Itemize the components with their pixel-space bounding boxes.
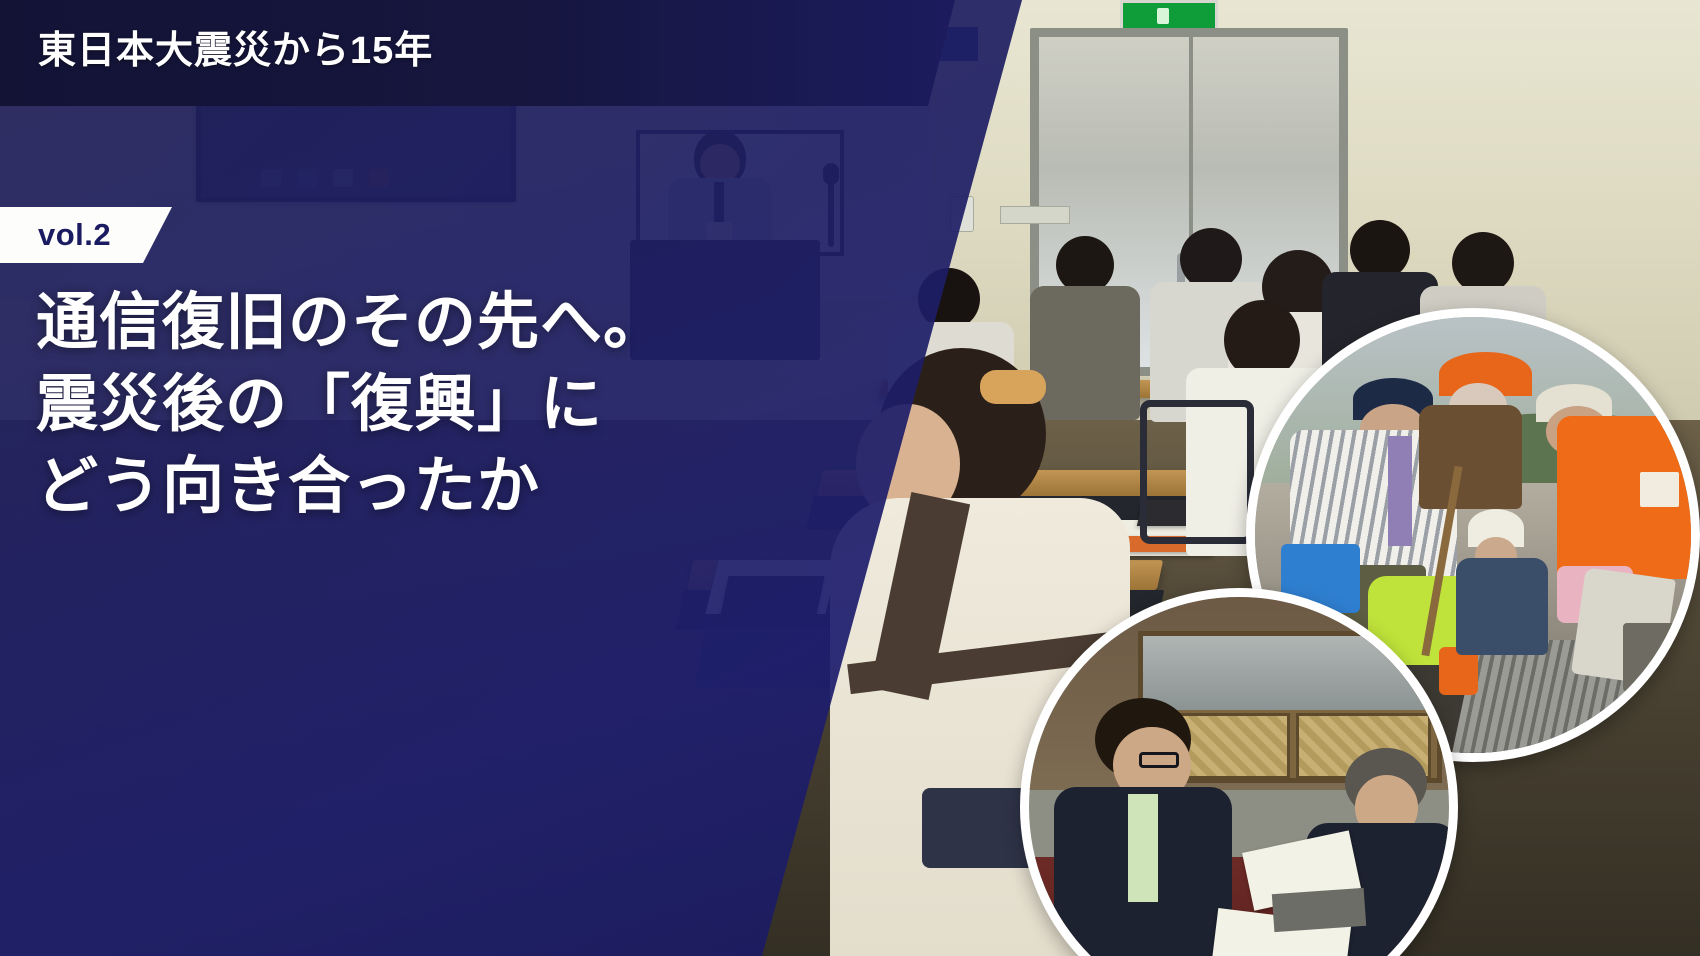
volume-tag-label: vol.2	[38, 217, 111, 253]
hair-clip	[980, 370, 1046, 404]
volume-tag: vol.2	[0, 207, 172, 263]
jacket-logo	[1640, 472, 1678, 507]
headline-line-1: 通信復旧のその先へ。	[36, 282, 856, 364]
table-mat	[1271, 888, 1366, 932]
work-boot	[1623, 623, 1682, 692]
page-title: 通信復旧のその先へ。 震災後の「復興」に どう向き合ったか	[36, 282, 856, 527]
volunteer-body	[1456, 558, 1549, 656]
series-label: 東日本大震災から15年	[38, 19, 433, 74]
attendee-head	[1350, 220, 1410, 280]
headline-line-3: どう向き合ったか	[36, 446, 856, 528]
inset-photo-interview	[1020, 588, 1458, 956]
interviewer-figure	[1054, 698, 1239, 956]
volunteer-figure	[1412, 352, 1534, 509]
scarf	[1388, 436, 1412, 546]
hero-banner: 東日本大震災から15年 vol.2 通信復旧のその先へ。 震災後の「復興」に ど…	[0, 0, 1700, 956]
headline-line-2: 震災後の「復興」に	[36, 364, 856, 446]
volunteer-body	[1419, 405, 1522, 509]
wall-plate	[1000, 206, 1070, 224]
inset-photo-interview-content	[1029, 597, 1449, 956]
volunteer-figure	[1456, 509, 1578, 683]
chair	[1140, 400, 1254, 544]
attendee-head	[1452, 232, 1514, 294]
glasses-icon	[1139, 752, 1179, 768]
shirt-collar	[1128, 794, 1158, 903]
